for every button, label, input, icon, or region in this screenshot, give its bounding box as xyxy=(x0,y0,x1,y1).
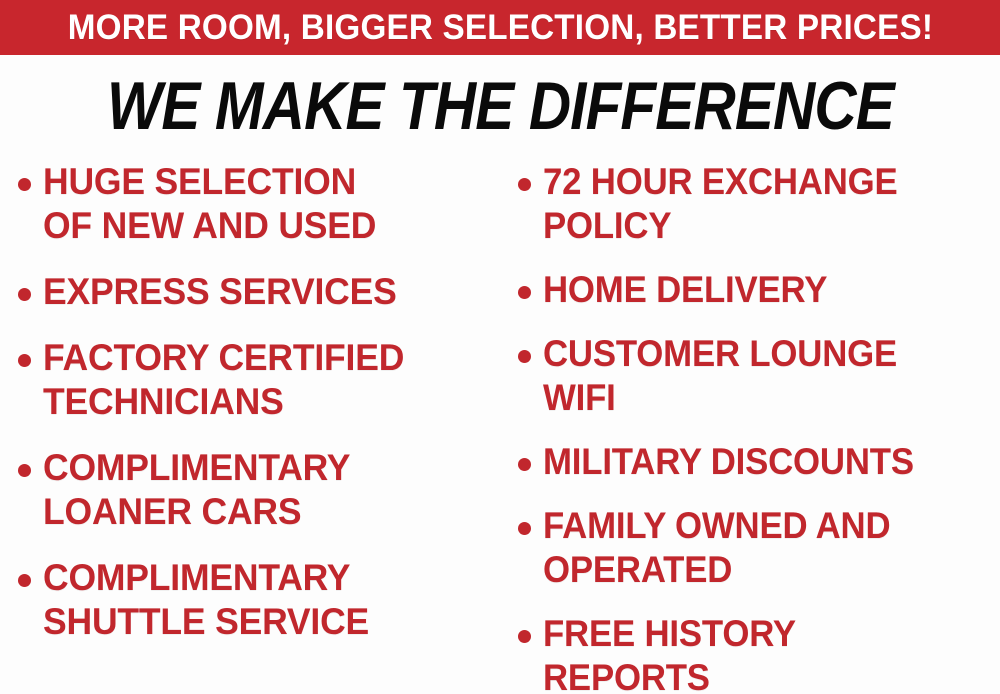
list-item: COMPLIMENTARY SHUTTLE SERVICE xyxy=(18,556,508,644)
list-item: 72 HOUR EXCHANGE POLICY xyxy=(518,160,1000,248)
bullet-dot-icon xyxy=(518,286,531,299)
list-item-label: COMPLIMENTARY SHUTTLE SERVICE xyxy=(43,556,369,644)
list-item-label: CUSTOMER LOUNGE WIFI xyxy=(543,332,897,420)
bullet-dot-icon xyxy=(518,350,531,363)
list-item: FACTORY CERTIFIED TECHNICIANS xyxy=(18,336,508,424)
promo-banner-text: MORE ROOM, BIGGER SELECTION, BETTER PRIC… xyxy=(67,10,932,45)
benefits-column-right: 72 HOUR EXCHANGE POLICY HOME DELIVERY CU… xyxy=(508,160,1000,694)
list-item-label: FREE HISTORY REPORTS xyxy=(543,612,796,694)
bullet-dot-icon xyxy=(18,464,31,477)
bullet-dot-icon xyxy=(18,574,31,587)
list-item-label: FACTORY CERTIFIED TECHNICIANS xyxy=(43,336,404,424)
headline-text: WE MAKE THE DIFFERENCE xyxy=(107,72,894,140)
dealership-benefits-ad: MORE ROOM, BIGGER SELECTION, BETTER PRIC… xyxy=(0,0,1000,694)
benefits-column-left: HUGE SELECTION OF NEW AND USED EXPRESS S… xyxy=(0,160,508,694)
list-item-label: FAMILY OWNED AND OPERATED xyxy=(543,504,890,592)
list-item: HUGE SELECTION OF NEW AND USED xyxy=(18,160,508,248)
list-item: FAMILY OWNED AND OPERATED xyxy=(518,504,1000,592)
bullet-dot-icon xyxy=(18,178,31,191)
list-item: MILITARY DISCOUNTS xyxy=(518,440,1000,484)
bullet-dot-icon xyxy=(518,522,531,535)
list-item: COMPLIMENTARY LOANER CARS xyxy=(18,446,508,534)
bullet-dot-icon xyxy=(518,178,531,191)
list-item-label: COMPLIMENTARY LOANER CARS xyxy=(43,446,350,534)
benefits-columns: HUGE SELECTION OF NEW AND USED EXPRESS S… xyxy=(0,160,1000,694)
bullet-dot-icon xyxy=(518,630,531,643)
list-item-label: HOME DELIVERY xyxy=(543,268,827,312)
list-item-label: EXPRESS SERVICES xyxy=(43,270,397,314)
bullet-dot-icon xyxy=(18,288,31,301)
bullet-dot-icon xyxy=(18,354,31,367)
list-item: CUSTOMER LOUNGE WIFI xyxy=(518,332,1000,420)
list-item: EXPRESS SERVICES xyxy=(18,270,508,314)
bullet-dot-icon xyxy=(518,458,531,471)
list-item: HOME DELIVERY xyxy=(518,268,1000,312)
list-item-label: HUGE SELECTION OF NEW AND USED xyxy=(43,160,376,248)
list-item-label: MILITARY DISCOUNTS xyxy=(543,440,914,484)
headline: WE MAKE THE DIFFERENCE xyxy=(0,72,1000,140)
list-item: FREE HISTORY REPORTS xyxy=(518,612,1000,694)
promo-banner: MORE ROOM, BIGGER SELECTION, BETTER PRIC… xyxy=(0,0,1000,55)
list-item-label: 72 HOUR EXCHANGE POLICY xyxy=(543,160,898,248)
